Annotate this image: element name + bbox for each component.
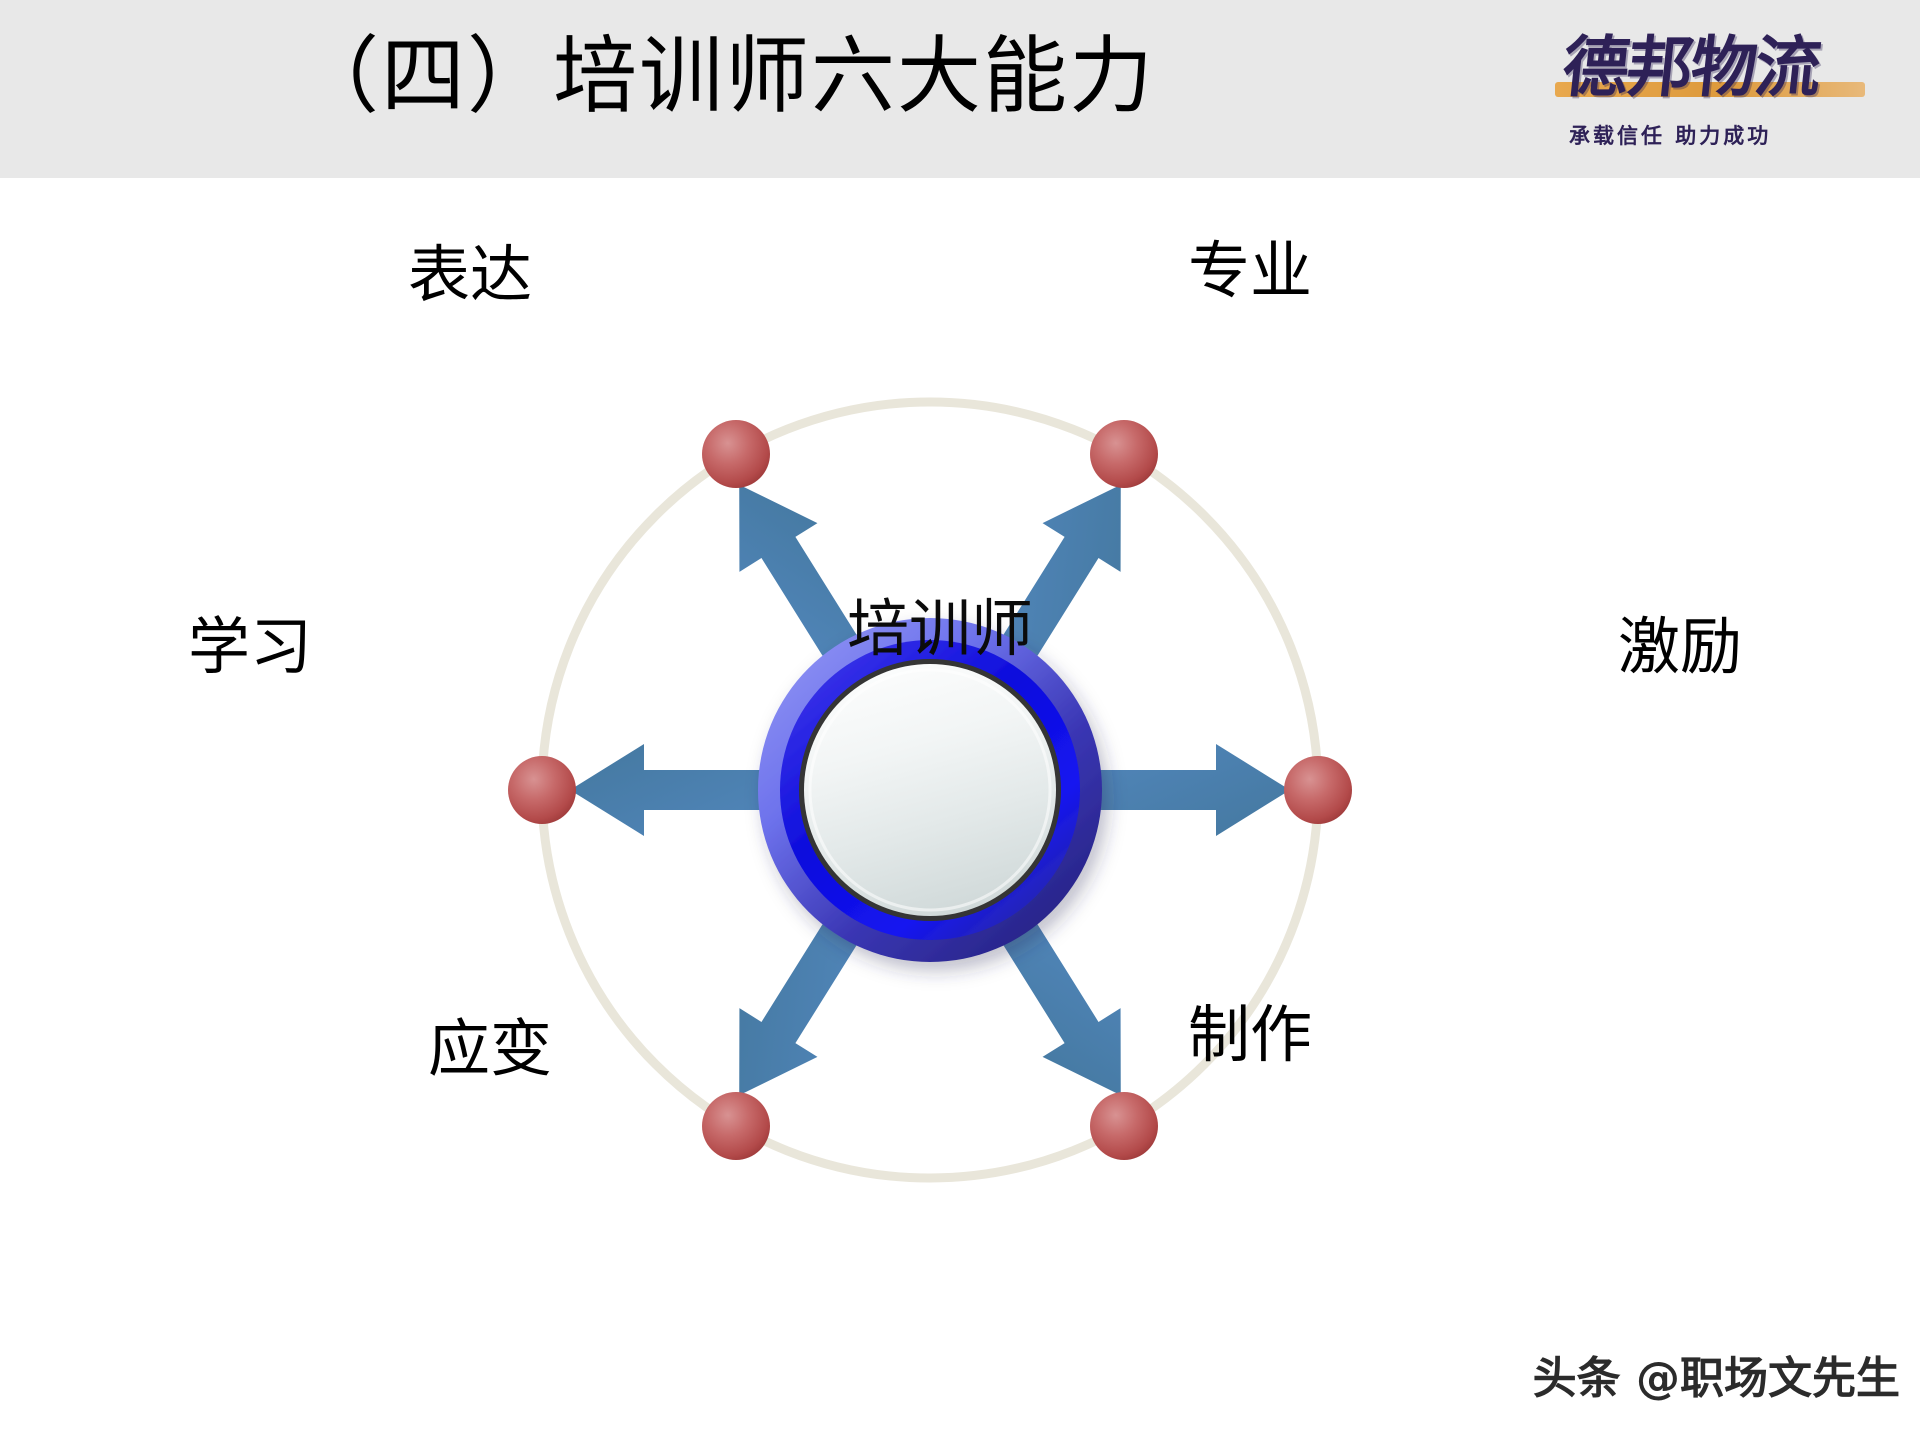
center-hub [758,618,1102,962]
node-label-adapt: 应变 [330,1018,650,1080]
page-title: （四）培训师六大能力 [0,28,1450,125]
node-label-motivate: 激励 [1520,616,1840,678]
logo-tagline: 承载信任 助力成功 [1569,120,1859,150]
node-dot-motivate [1284,756,1352,824]
node-dot-express [702,420,770,488]
competency-radial-diagram: 培训师 表达 专业 激励 制作 应变 学习 [0,178,1920,1440]
logo-wordmark: 德邦物流 [1558,22,1872,114]
node-label-learn: 学习 [100,616,400,678]
node-label-produce: 制作 [1090,1004,1410,1066]
node-label-express: 表达 [310,244,630,306]
company-logo: 德邦物流 承载信任 助力成功 [1555,14,1875,164]
node-dot-profess [1090,420,1158,488]
node-dot-produce [1090,1092,1158,1160]
node-dot-adapt [702,1092,770,1160]
diagram-graphics [0,178,1920,1440]
arrow-learn [570,744,770,836]
node-dot-learn [508,756,576,824]
watermark-text: 头条 @职场文先生 [1440,1342,1900,1406]
slide-canvas: （四）培训师六大能力 德邦物流 承载信任 助力成功 [0,0,1920,1440]
node-label-profess: 专业 [1090,240,1410,302]
arrow-motivate [1090,744,1290,836]
